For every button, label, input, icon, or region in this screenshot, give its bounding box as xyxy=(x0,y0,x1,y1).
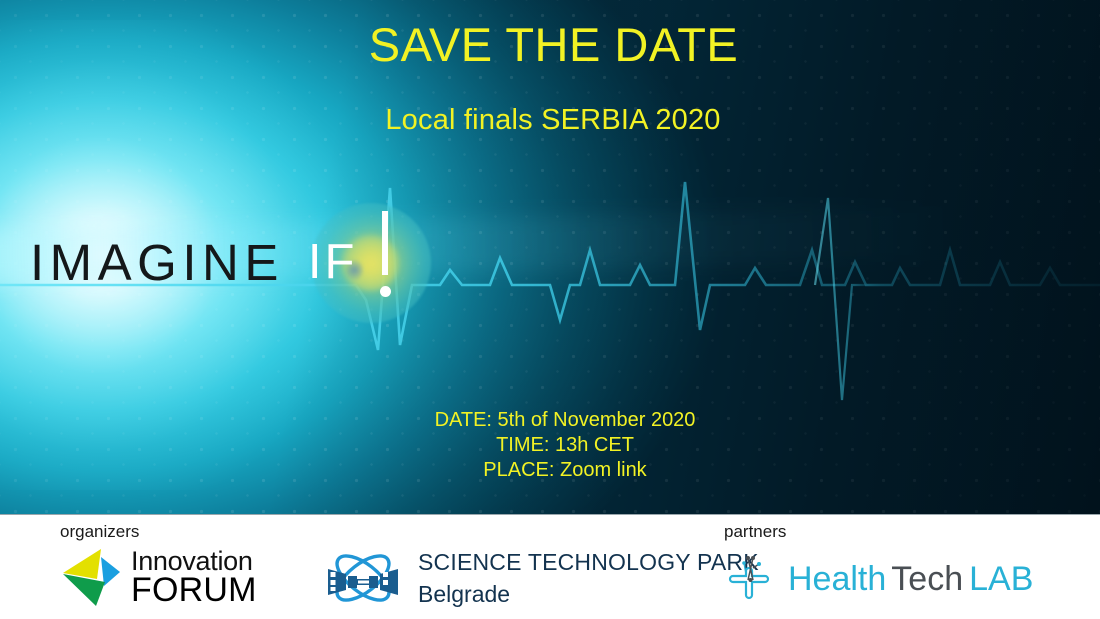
event-time: TIME: 13h CET xyxy=(390,433,740,458)
if-mark: IF xyxy=(306,203,424,321)
partners-block: partners xyxy=(724,523,1033,608)
satellite-orbit-icon xyxy=(322,543,404,613)
if-wordmark: IF xyxy=(306,238,358,287)
innovation-forum-logo[interactable]: Innovation FORUM xyxy=(60,546,257,608)
healthtech-name-part3: LAB xyxy=(969,560,1033,598)
healthtech-lab-logo[interactable]: HealthTechLAB xyxy=(724,550,1033,608)
sponsor-footer: organizers Innovation FORUM xyxy=(0,514,1100,619)
exclamation-dot-icon xyxy=(380,286,391,297)
exclamation-bar-icon xyxy=(382,211,388,275)
science-park-name-top: SCIENCE TECHNOLOGY PARK xyxy=(418,551,759,574)
page-subtitle: Local finals SERBIA 2020 xyxy=(0,104,1100,137)
science-park-name-bottom: Belgrade xyxy=(418,583,759,606)
innovation-forum-triangle-icon xyxy=(60,546,124,608)
imagine-if-logo: IMAGINE IF xyxy=(30,222,424,302)
imagine-wordmark: IMAGINE xyxy=(30,237,284,288)
hero-banner: SAVE THE DATE Local finals SERBIA 2020 I… xyxy=(0,0,1100,514)
healthtech-name-part1: Health xyxy=(788,560,886,598)
medical-cross-node-icon xyxy=(724,550,786,608)
partners-label: partners xyxy=(724,523,1033,540)
save-the-date-poster: SAVE THE DATE Local finals SERBIA 2020 I… xyxy=(0,0,1100,619)
organizers-block: organizers Innovation FORUM xyxy=(60,523,257,608)
healthtech-name-part2: Tech xyxy=(891,560,963,598)
event-details: DATE: 5th of November 2020 TIME: 13h CET… xyxy=(390,408,740,483)
innovation-forum-name-bottom: FORUM xyxy=(131,573,257,607)
science-technology-park-block: SCIENCE TECHNOLOGY PARK Belgrade xyxy=(322,543,759,613)
organizers-label: organizers xyxy=(60,523,257,540)
page-title: SAVE THE DATE xyxy=(0,17,1100,72)
event-date: DATE: 5th of November 2020 xyxy=(390,408,740,433)
event-place: PLACE: Zoom link xyxy=(390,458,740,483)
science-technology-park-logo[interactable]: SCIENCE TECHNOLOGY PARK Belgrade xyxy=(322,543,759,613)
